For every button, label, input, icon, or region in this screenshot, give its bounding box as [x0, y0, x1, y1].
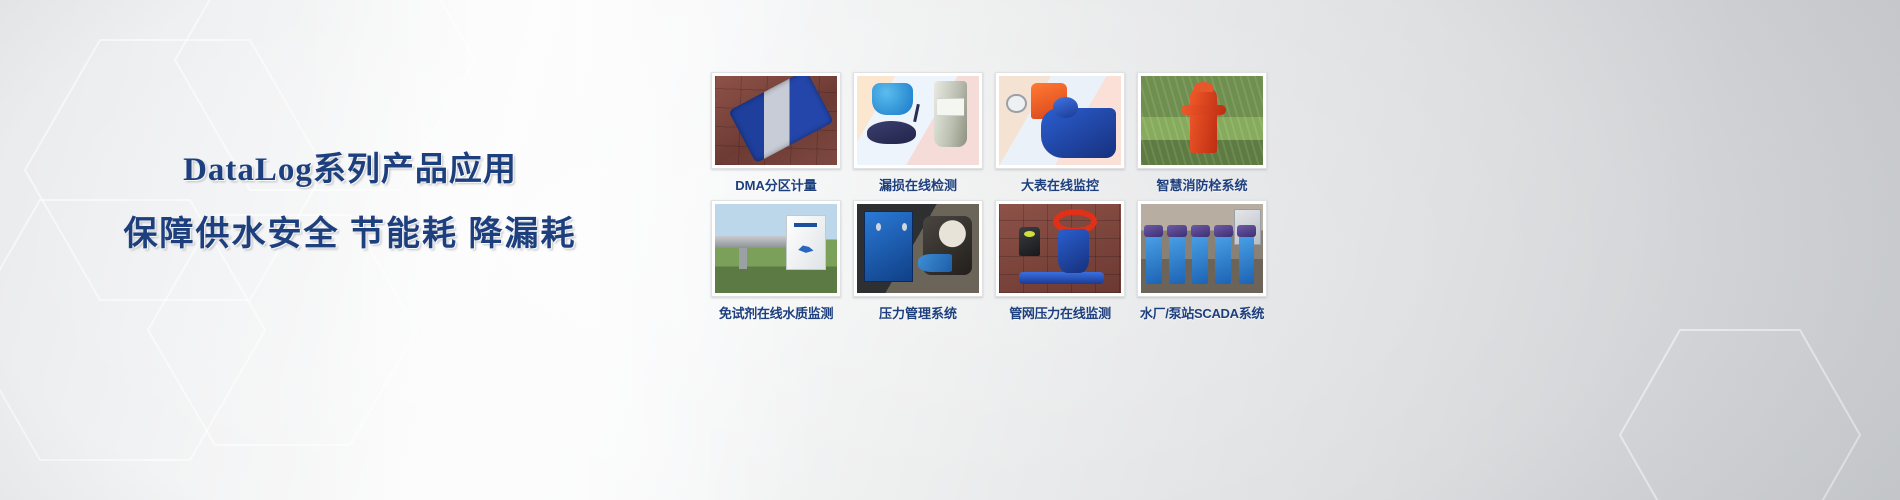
promotional-banner: DataLog系列产品应用 保障供水安全 节能耗 降漏耗 DMA分区计量 — [0, 0, 1900, 500]
product-thumbnail-pressure-management[interactable] — [853, 200, 983, 297]
product-label-water-quality: 免试剂在线水质监测 — [719, 305, 833, 322]
product-card-grid: DMA分区计量 漏损在线检测 大表在线监控 — [706, 72, 1272, 322]
product-thumbnail-scada[interactable] — [1137, 200, 1267, 297]
headline-line-primary: DataLog系列产品应用 — [0, 148, 700, 192]
water-quality-cabinet-image — [715, 204, 837, 293]
product-label-large-meter: 大表在线监控 — [1021, 177, 1099, 194]
product-card-pressure-management[interactable]: 压力管理系统 — [848, 200, 988, 322]
product-thumbnail-water-quality[interactable] — [711, 200, 841, 297]
banner-headline: DataLog系列产品应用 保障供水安全 节能耗 降漏耗 — [0, 148, 700, 258]
product-card-leak-detection[interactable]: 漏损在线检测 — [848, 72, 988, 194]
product-card-network-pressure[interactable]: 管网压力在线监测 — [990, 200, 1130, 322]
product-thumbnail-smart-hydrant[interactable] — [1137, 72, 1267, 169]
product-label-network-pressure: 管网压力在线监测 — [1009, 305, 1111, 322]
headline-line-secondary: 保障供水安全 节能耗 降漏耗 — [0, 212, 700, 258]
product-card-dma-metering[interactable]: DMA分区计量 — [706, 72, 846, 194]
product-thumbnail-large-meter[interactable] — [995, 72, 1125, 169]
product-card-large-meter[interactable]: 大表在线监控 — [990, 72, 1130, 194]
product-thumbnail-dma-metering[interactable] — [711, 72, 841, 169]
network-pressure-valve-image — [999, 204, 1121, 293]
product-card-smart-hydrant[interactable]: 智慧消防栓系统 — [1132, 72, 1272, 194]
product-thumbnail-leak-detection[interactable] — [853, 72, 983, 169]
product-label-pressure-management: 压力管理系统 — [879, 305, 957, 322]
product-thumbnail-network-pressure[interactable] — [995, 200, 1125, 297]
pump-station-image — [1141, 204, 1263, 293]
pressure-control-panel-image — [857, 204, 979, 293]
product-card-scada[interactable]: 水厂/泵站SCADA系统 — [1132, 200, 1272, 322]
product-label-dma-metering: DMA分区计量 — [735, 177, 817, 194]
product-card-water-quality[interactable]: 免试剂在线水质监测 — [706, 200, 846, 322]
dma-valve-image — [715, 76, 837, 165]
large-meter-image — [999, 76, 1121, 165]
product-label-smart-hydrant: 智慧消防栓系统 — [1156, 177, 1247, 194]
fire-hydrant-image — [1141, 76, 1263, 165]
leak-logger-image — [857, 76, 979, 165]
product-label-leak-detection: 漏损在线检测 — [879, 177, 957, 194]
product-label-scada: 水厂/泵站SCADA系统 — [1140, 305, 1264, 322]
